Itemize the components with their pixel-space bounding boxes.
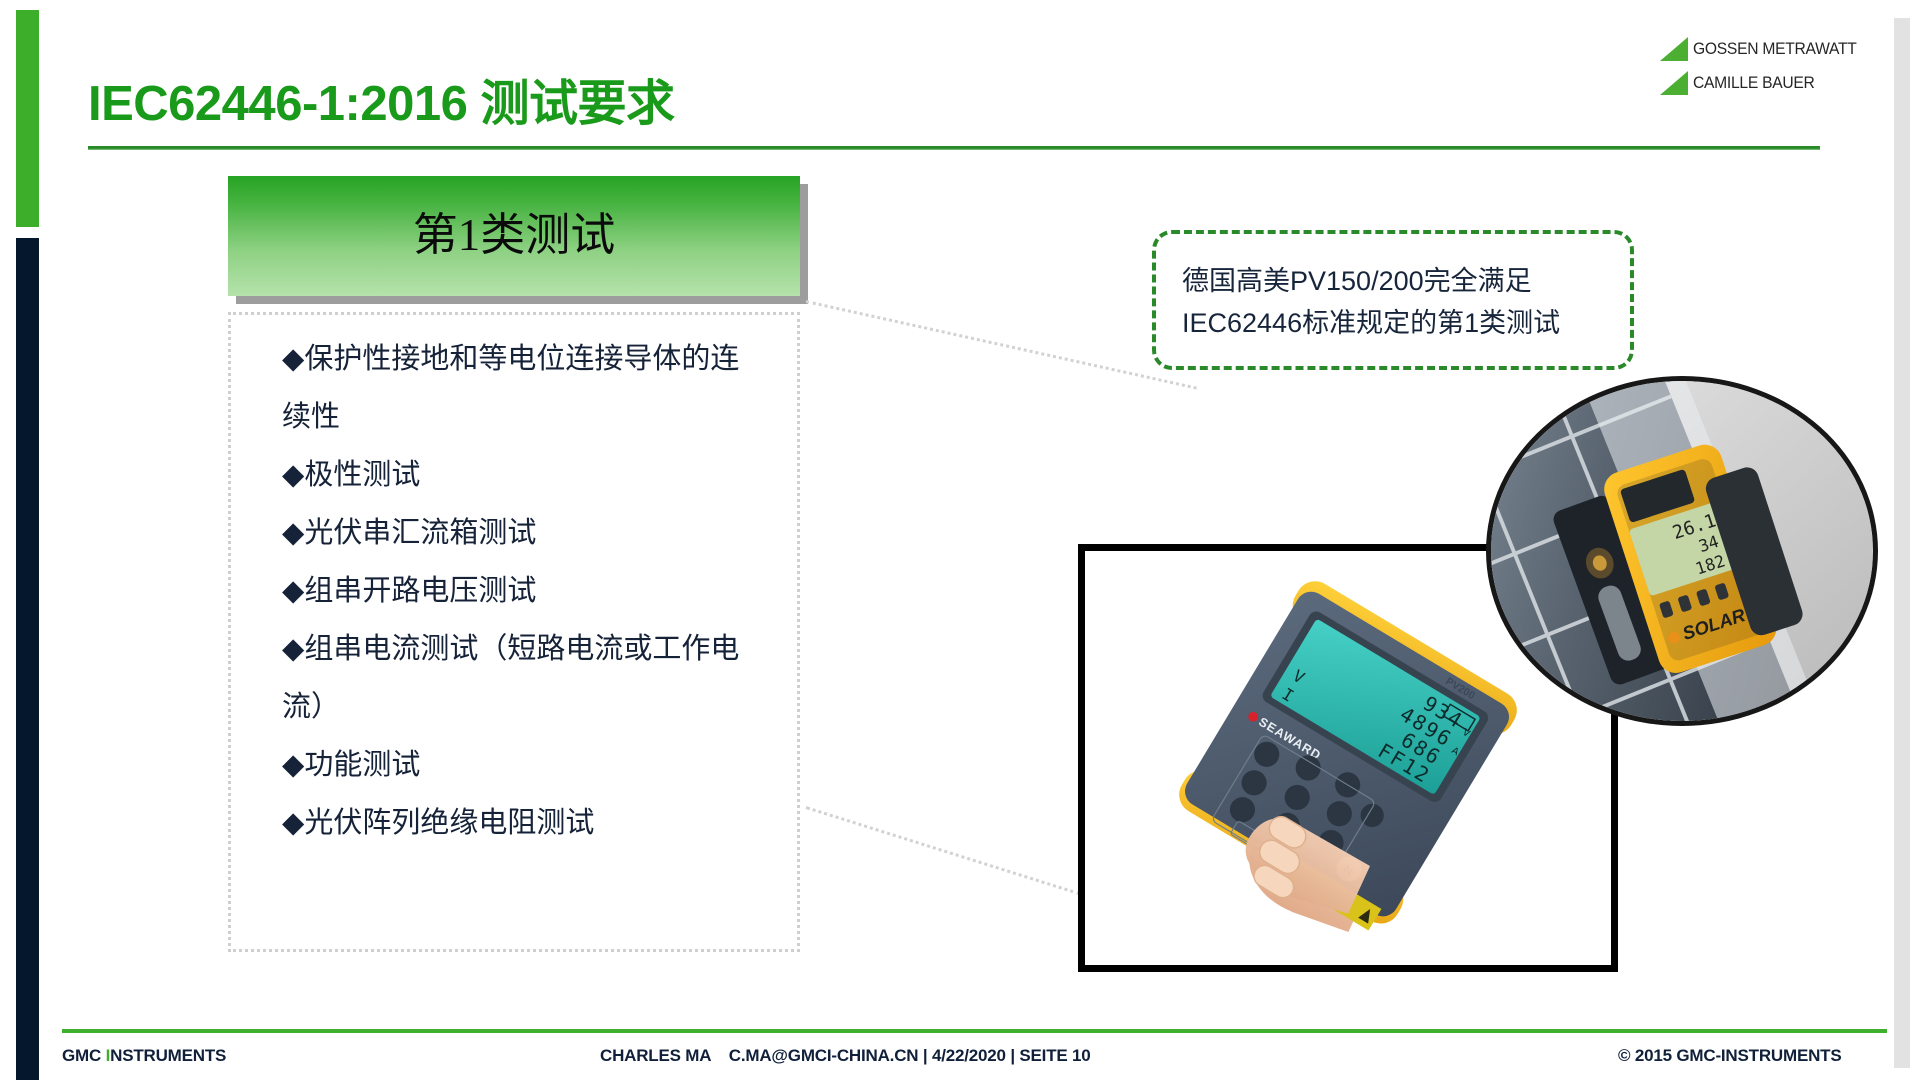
left-edge-navy-bar: [16, 238, 39, 1080]
logo-row-gossen-metrawatt: GOSSEN METRAWATT: [1660, 32, 1892, 66]
list-item: ◆极性测试: [282, 446, 802, 504]
list-item: ◆光伏串汇流箱测试: [282, 504, 802, 562]
bullet-marker: ◆: [282, 807, 304, 839]
footer-center-text: CHARLES MA C.MA@GMCI-CHINA.CN | 4/22/202…: [600, 1046, 1091, 1066]
list-item: ◆光伏阵列绝缘电阻测试: [282, 794, 802, 852]
category-header-box: 第1类测试: [228, 176, 800, 296]
bullet-marker: ◆: [282, 633, 304, 665]
footer-brand-prefix: GMC: [62, 1046, 106, 1065]
bullet-text: 保护性接地和等电位连接导体的连续性: [282, 343, 739, 433]
bullet-marker: ◆: [282, 517, 304, 549]
logo-row-camille-bauer: CAMILLE BAUER: [1660, 66, 1892, 100]
product-photo-inset-irradiance-meter: 26.1 34 182 W SOLAR: [1486, 376, 1878, 726]
bullet-marker: ◆: [282, 343, 304, 375]
footer-brand-suffix: NSTRUMENTS: [110, 1046, 226, 1065]
green-triangle-icon: [1660, 37, 1688, 61]
list-item: ◆保护性接地和等电位连接导体的连续性: [282, 330, 752, 446]
title-underline: [88, 146, 1820, 150]
bullet-marker: ◆: [282, 749, 304, 781]
callout-line-2: IEC62446标准规定的第1类测试: [1182, 308, 1560, 338]
logo-label-camille-bauer: CAMILLE BAUER: [1693, 73, 1815, 93]
connector-line-upper: [806, 300, 1197, 390]
footer-rule: [62, 1029, 1887, 1033]
corporate-logo: GOSSEN METRAWATT CAMILLE BAUER: [1660, 32, 1892, 100]
bullet-marker: ◆: [282, 459, 304, 491]
callout-text: 德国高美PV150/200完全满足 IEC62446标准规定的第1类测试: [1182, 260, 1622, 344]
footer-brand: GMC INSTRUMENTS: [62, 1046, 226, 1066]
footer-copyright: © 2015 GMC-INSTRUMENTS: [1618, 1046, 1842, 1066]
connector-line-lower: [806, 806, 1082, 895]
bullet-text: 功能测试: [304, 749, 420, 781]
right-edge-gray-bar: [1894, 18, 1910, 1068]
left-edge-green-bar: [16, 10, 39, 227]
callout-line-1: 德国高美PV150/200完全满足: [1182, 266, 1532, 296]
list-item: ◆组串开路电压测试: [282, 562, 802, 620]
category-header-label: 第1类测试: [228, 198, 800, 263]
bullet-text: 光伏阵列绝缘电阻测试: [304, 807, 594, 839]
bullet-text: 组串开路电压测试: [304, 575, 536, 607]
bullet-marker: ◆: [282, 575, 304, 607]
green-triangle-icon: [1660, 71, 1688, 95]
logo-label-gossen-metrawatt: GOSSEN METRAWATT: [1693, 39, 1857, 59]
callout-box: 德国高美PV150/200完全满足 IEC62446标准规定的第1类测试: [1152, 230, 1634, 370]
list-item: ◆功能测试: [282, 736, 802, 794]
irradiance-meter-illustration: 26.1 34 182 W SOLAR: [1491, 381, 1873, 721]
bullet-list: ◆保护性接地和等电位连接导体的连续性 ◆极性测试 ◆光伏串汇流箱测试 ◆组串开路…: [282, 330, 802, 852]
bullet-text: 极性测试: [304, 459, 420, 491]
bullet-text: 光伏串汇流箱测试: [304, 517, 536, 549]
bullet-text: 组串电流测试（短路电流或工作电流）: [282, 633, 739, 723]
page-title: IEC62446-1:2016 测试要求: [88, 64, 674, 135]
list-item: ◆组串电流测试（短路电流或工作电流）: [282, 620, 752, 736]
